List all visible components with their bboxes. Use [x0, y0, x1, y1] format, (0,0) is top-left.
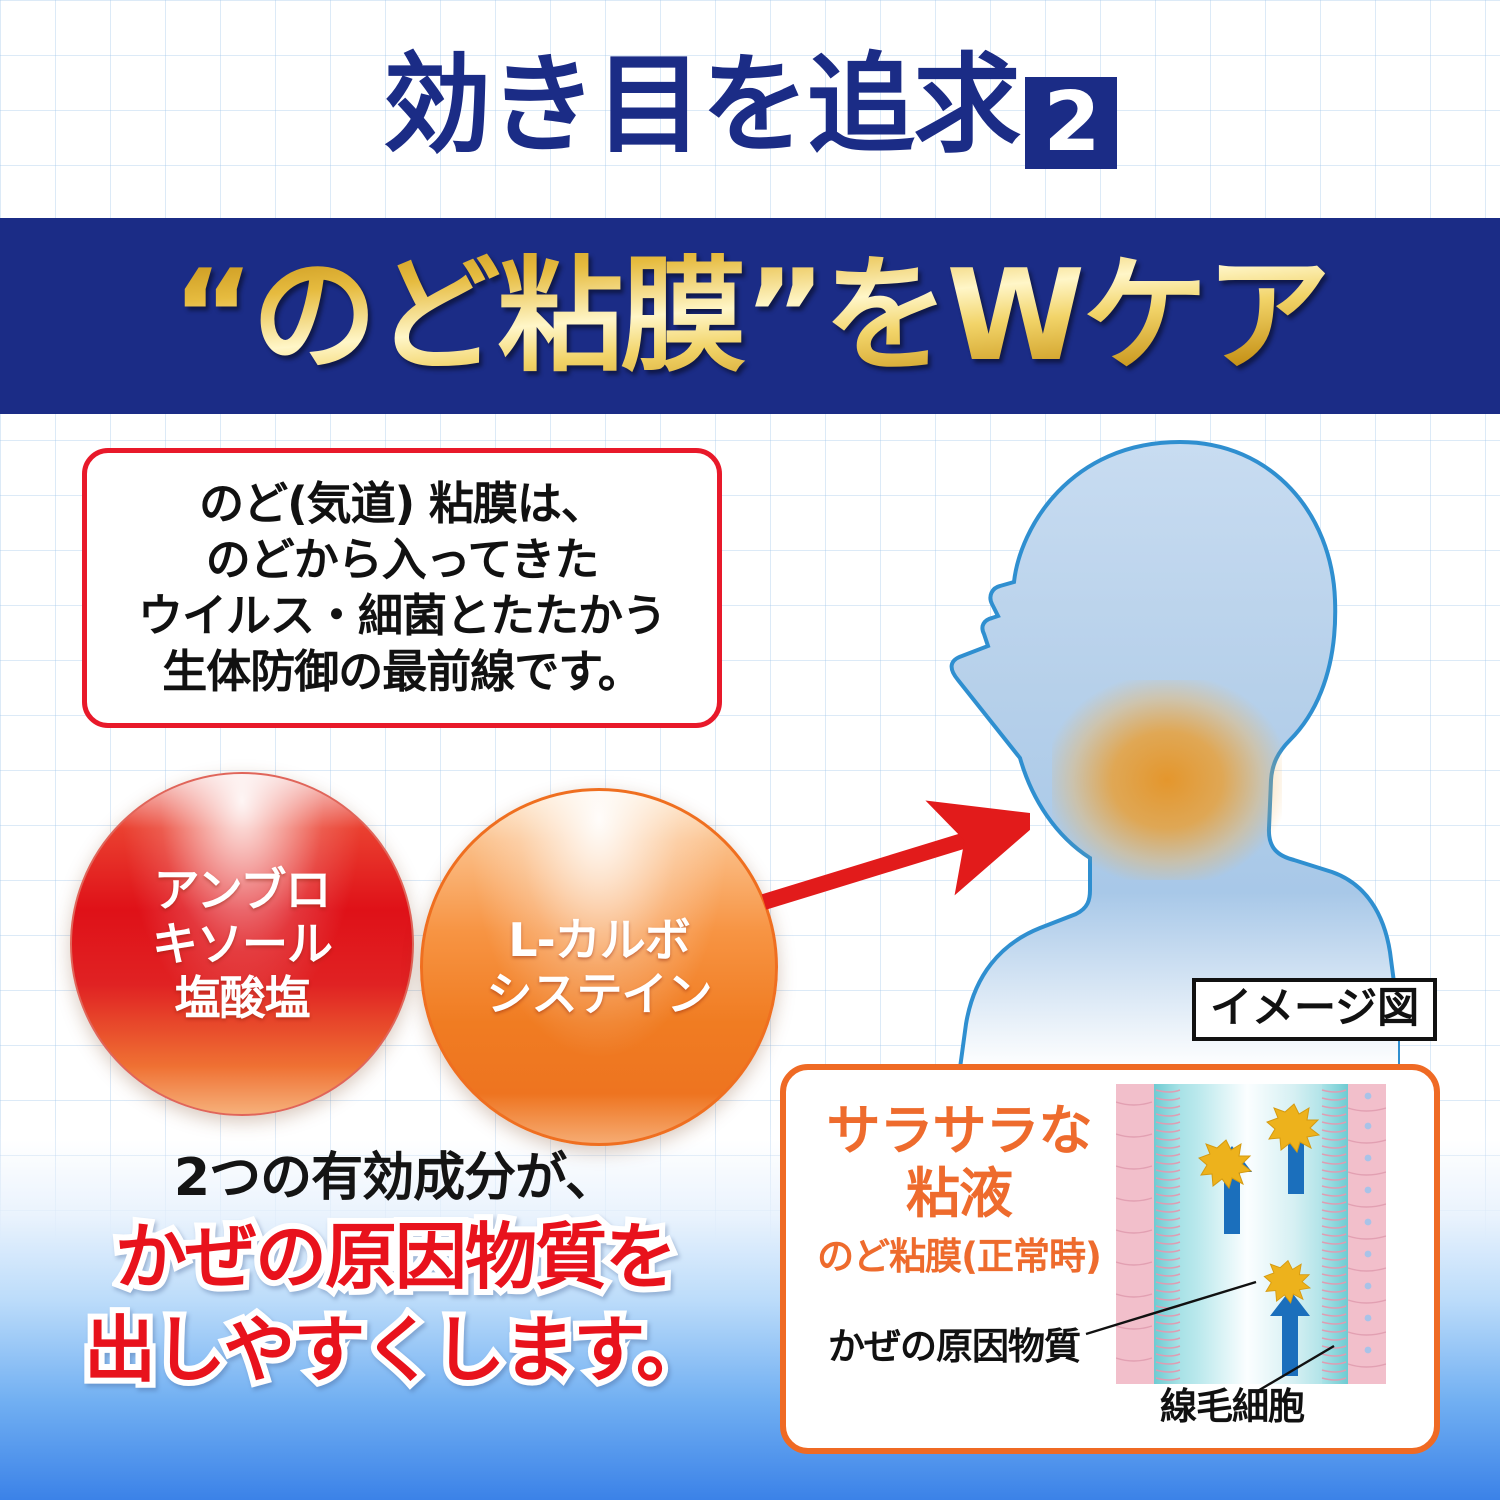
ambroxol-line-1: アンブロ	[154, 863, 331, 917]
banner-text: “のど粘膜”をWケア	[162, 253, 1339, 379]
ingredient-circle-ambroxol: アンブロ キソール 塩酸塩	[70, 772, 414, 1116]
headline-banner: “のど粘膜”をWケア	[0, 218, 1500, 414]
panel-title-line-1: サラサラな	[804, 1100, 1114, 1163]
section-number-badge: 2	[1025, 77, 1117, 169]
ambroxol-line-2: キソール	[152, 917, 332, 971]
label-virus-particle: かぜの原因物質	[804, 1316, 1104, 1370]
label-ciliated-cell: 線毛細胞	[1102, 1376, 1362, 1430]
image-caption-tag: イメージ図	[1192, 978, 1437, 1041]
head-illustration	[880, 428, 1400, 1068]
benefit-copy-line-1: 2つの有効成分が、	[0, 1150, 790, 1207]
carbocisteine-line-2: システイン	[487, 967, 712, 1021]
benefit-copy-line-2: かぜの原因物質を	[0, 1215, 790, 1300]
ambroxol-line-3: 塩酸塩	[175, 971, 310, 1025]
mucosa-explanation-callout: のど(気道) 粘膜は、 のどから入ってきた ウイルス・細菌とたたかう 生体防御の…	[82, 448, 722, 728]
panel-title-block: サラサラな 粘液 のど粘膜(正常時)	[804, 1100, 1114, 1280]
page-title: 効き目を追求2	[0, 52, 1500, 169]
benefit-copy: 2つの有効成分が、 かぜの原因物質を 出しやすくします。	[0, 1150, 790, 1393]
ingredient-circle-carbocisteine: L-カルボ システイン	[420, 788, 778, 1146]
callout-line-4: 生体防御の最前線です。	[162, 644, 642, 700]
callout-line-2: のどから入ってきた	[206, 532, 598, 588]
callout-line-3: ウイルス・細菌とたたかう	[138, 588, 666, 644]
panel-subtitle: のど粘膜(正常時)	[804, 1235, 1114, 1279]
benefit-copy-line-3: 出しやすくします。	[0, 1308, 790, 1393]
carbocisteine-line-1: L-カルボ	[508, 913, 689, 967]
pointer-arrow-icon	[740, 790, 1030, 940]
callout-line-1: のど(気道) 粘膜は、	[199, 476, 605, 532]
mucus-detail-panel: サラサラな 粘液 のど粘膜(正常時) かぜの原因物質 線毛細胞	[780, 1064, 1440, 1454]
advertisement-canvas: 効き目を追求2 “のど粘膜”をWケア のど(気道) 粘膜は、 のどから入ってきた…	[0, 0, 1500, 1500]
cilia-diagram	[1116, 1084, 1386, 1384]
panel-title-line-2: 粘液	[804, 1163, 1114, 1226]
head-silhouette-icon	[880, 428, 1400, 1068]
page-title-text: 効き目を追求	[383, 43, 1019, 168]
